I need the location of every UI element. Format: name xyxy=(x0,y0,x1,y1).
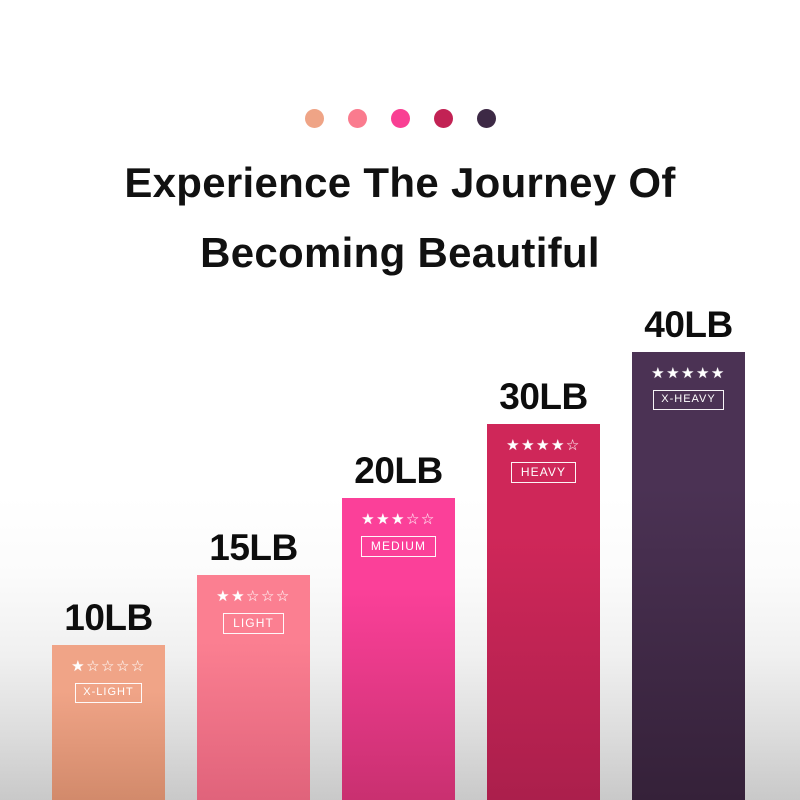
bar-body: ★☆☆☆☆X-LIGHT xyxy=(52,645,165,800)
resistance-bar-chart: 10LB★☆☆☆☆X-LIGHT15LB★★☆☆☆LIGHT20LB★★★☆☆M… xyxy=(0,280,800,800)
dot-x-heavy xyxy=(477,109,496,128)
dot-medium xyxy=(391,109,410,128)
page-title: Experience The Journey Of Becoming Beaut… xyxy=(0,148,800,288)
bar-weight-label: 10LB xyxy=(64,599,152,636)
bar-weight-label: 30LB xyxy=(499,378,587,415)
dot-palette-row xyxy=(0,107,800,129)
bar-body: ★★★★★X-HEAVY xyxy=(632,352,745,800)
star-rating: ★★★★★ xyxy=(651,366,726,381)
star-rating: ★★★☆☆ xyxy=(361,512,436,527)
tier-badge: X-HEAVY xyxy=(653,390,723,410)
bar-weight-label: 40LB xyxy=(644,306,732,343)
star-rating: ★★☆☆☆ xyxy=(216,589,291,604)
bar-body: ★★★☆☆MEDIUM xyxy=(342,498,455,800)
bar-column-heavy[interactable]: 30LB★★★★☆HEAVY xyxy=(487,378,600,800)
bar-column-x-light[interactable]: 10LB★☆☆☆☆X-LIGHT xyxy=(52,599,165,800)
star-rating: ★☆☆☆☆ xyxy=(71,659,146,674)
star-rating: ★★★★☆ xyxy=(506,438,581,453)
bar-body: ★★★★☆HEAVY xyxy=(487,424,600,800)
tier-badge: LIGHT xyxy=(223,613,284,634)
tier-badge: HEAVY xyxy=(511,462,576,483)
page-title-line-2: Becoming Beautiful xyxy=(0,218,800,288)
bar-column-medium[interactable]: 20LB★★★☆☆MEDIUM xyxy=(342,452,455,800)
dot-heavy xyxy=(434,109,453,128)
bar-weight-label: 20LB xyxy=(354,452,442,489)
dot-x-light xyxy=(305,109,324,128)
tier-badge: MEDIUM xyxy=(361,536,436,557)
dot-light xyxy=(348,109,367,128)
tier-badge: X-LIGHT xyxy=(75,683,141,703)
bar-weight-label: 15LB xyxy=(209,529,297,566)
bar-column-x-heavy[interactable]: 40LB★★★★★X-HEAVY xyxy=(632,306,745,800)
bar-column-light[interactable]: 15LB★★☆☆☆LIGHT xyxy=(197,529,310,800)
page-title-line-1: Experience The Journey Of xyxy=(0,148,800,218)
bar-body: ★★☆☆☆LIGHT xyxy=(197,575,310,800)
